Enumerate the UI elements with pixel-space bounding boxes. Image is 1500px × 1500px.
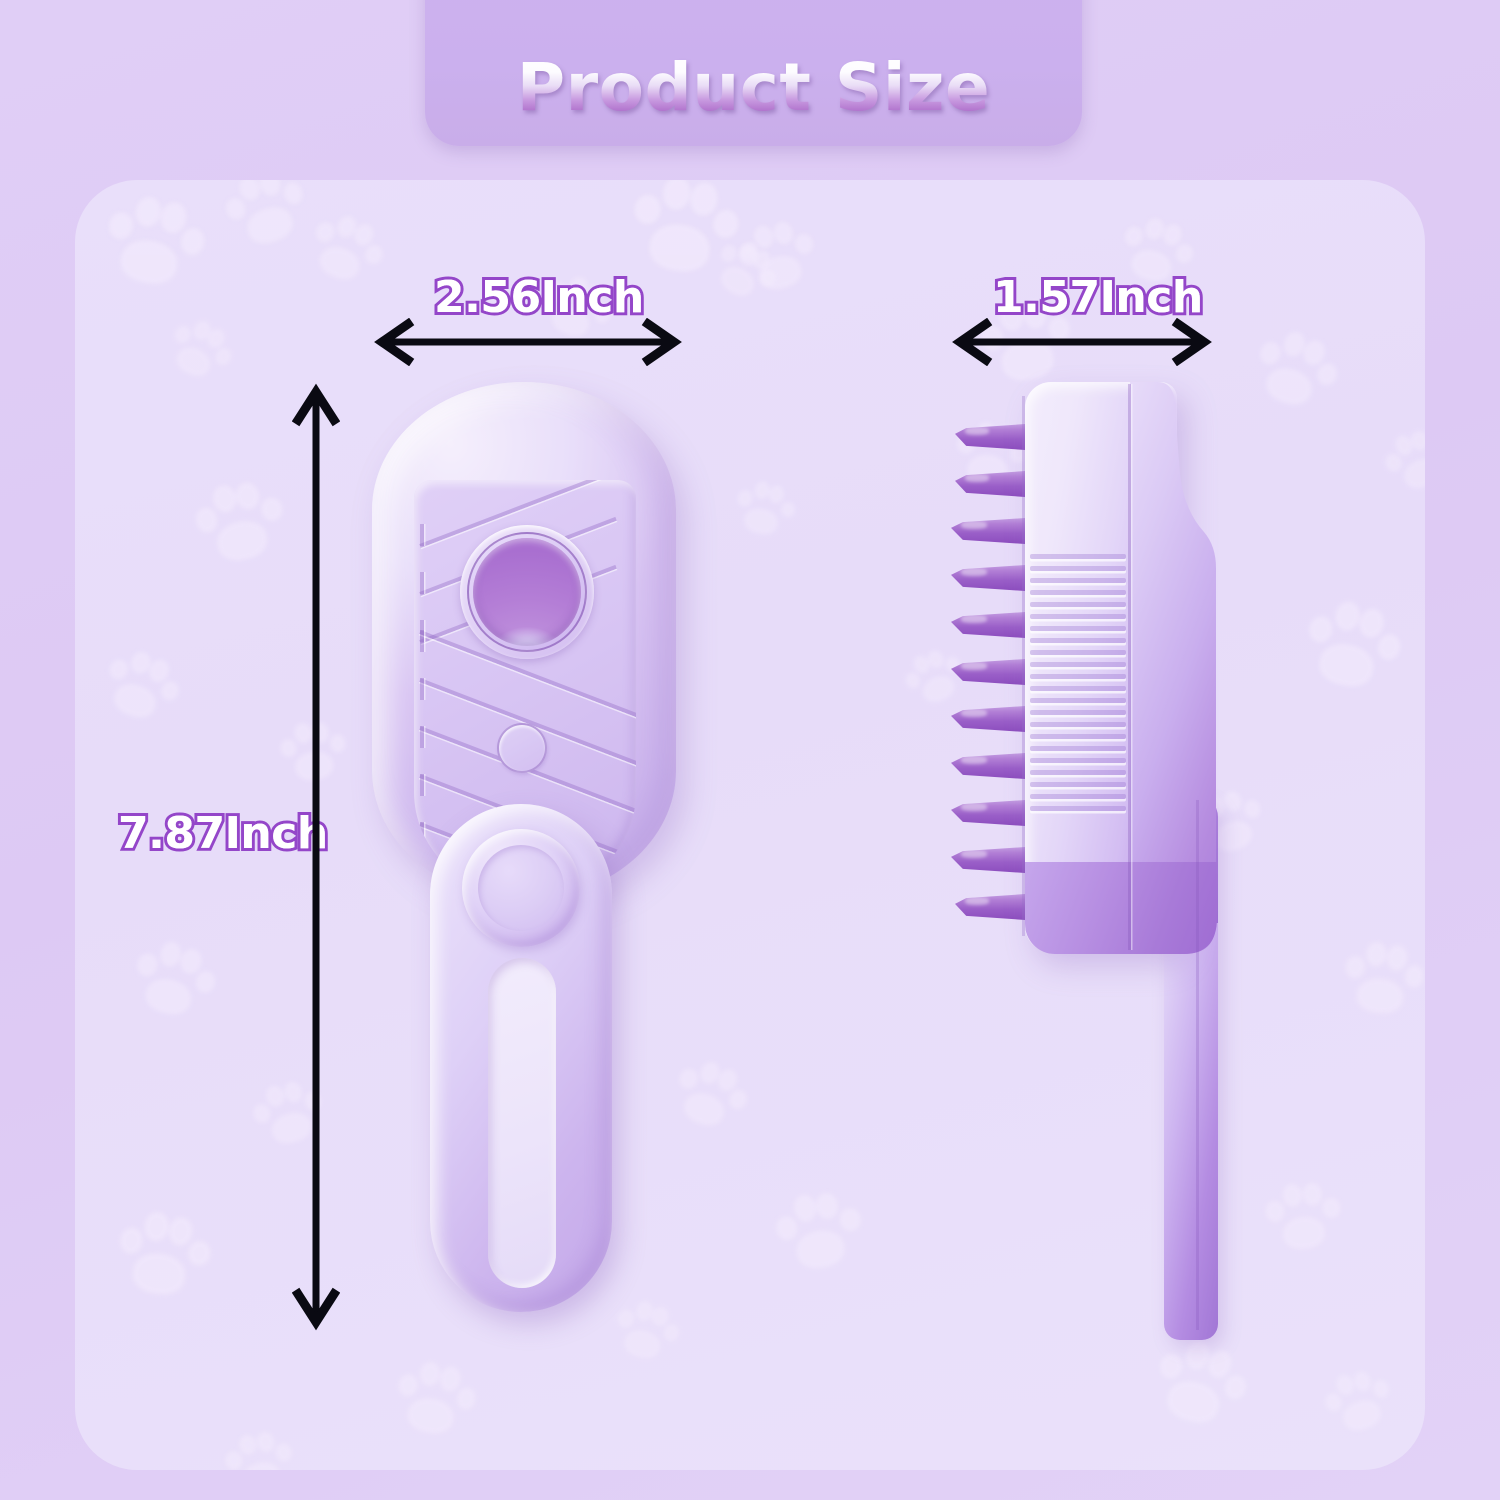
silicone-bristle	[951, 612, 1025, 638]
paw-print-icon	[161, 310, 240, 388]
grip-ridge-line	[1030, 722, 1126, 727]
grip-ridge-line	[1030, 554, 1126, 559]
chevron-tick	[420, 678, 424, 700]
grip-ridge-line	[1030, 662, 1126, 667]
grip-ridge-line	[1030, 746, 1126, 751]
grip-ridge-line	[1030, 710, 1126, 715]
chevron-tick	[420, 572, 424, 594]
paw-print-icon	[1317, 1362, 1397, 1440]
chevron-tick	[420, 774, 424, 796]
paw-print-icon	[389, 1354, 479, 1441]
paw-print-icon	[1262, 1176, 1343, 1254]
width-side-label: 1.57Inch	[993, 272, 1203, 323]
indicator-button[interactable]	[497, 723, 547, 773]
grip-ridge-line	[1030, 650, 1126, 655]
paw-print-icon	[769, 1183, 866, 1276]
page-title: Product Size	[517, 49, 990, 126]
silicone-bristle	[951, 800, 1025, 826]
silicone-bristle	[955, 894, 1025, 920]
paw-print-icon	[98, 186, 208, 292]
silicone-bristle	[951, 518, 1025, 544]
grip-ridge-line	[1030, 566, 1126, 571]
paw-print-icon	[1339, 936, 1424, 1018]
grip-ridge-line	[1030, 674, 1126, 679]
paw-print-icon	[219, 1424, 297, 1470]
side-head-left-edge	[1022, 396, 1025, 936]
silicone-bristle	[955, 471, 1025, 497]
grip-ridge-line	[1030, 590, 1126, 595]
grip-ridge-line	[1030, 770, 1126, 775]
silicone-bristle	[951, 565, 1025, 591]
paw-print-icon	[125, 931, 221, 1024]
chevron-tick	[420, 726, 424, 748]
paw-print-icon	[1297, 591, 1405, 696]
grip-ridge-line	[1030, 578, 1126, 583]
silicone-bristle	[951, 847, 1025, 873]
grip-ridge-line	[1030, 638, 1126, 643]
side-head-bottom	[1025, 862, 1217, 954]
grip-ridge-line	[1030, 734, 1126, 739]
chevron-tick	[420, 630, 424, 652]
width-arrow-side	[950, 318, 1214, 366]
handle-knob-inner	[478, 845, 564, 931]
grip-ridge-line	[1030, 686, 1126, 691]
grip-ridge-line	[1030, 758, 1126, 763]
grip-ridges	[1030, 554, 1126, 816]
paw-print-icon	[1376, 421, 1425, 499]
paw-print-icon	[1145, 1329, 1253, 1434]
grip-ridge-line	[1030, 602, 1126, 607]
chevron-tick	[420, 822, 424, 844]
silicone-bristle	[951, 659, 1025, 685]
silicone-bristle	[955, 424, 1025, 450]
width-front-label: 2.56Inch	[434, 272, 644, 323]
chevron-tick	[420, 524, 424, 546]
grip-ridge-line	[1030, 698, 1126, 703]
grip-ridge-line	[1030, 806, 1126, 811]
paw-print-icon	[215, 180, 312, 254]
paw-print-icon	[95, 640, 186, 729]
grip-ridge-line	[1030, 794, 1126, 799]
water-tank-window[interactable]	[473, 538, 581, 646]
paw-print-icon	[111, 1204, 212, 1301]
paw-print-icon	[187, 472, 288, 570]
grip-ridge-line	[1030, 614, 1126, 619]
paw-print-icon	[1245, 319, 1345, 416]
side-handle-seam	[1196, 800, 1199, 1330]
title-badge: Product Size	[425, 0, 1082, 146]
silicone-bristle	[951, 706, 1025, 732]
handle-loop-opening	[488, 958, 556, 1288]
grip-ridge-line	[1030, 782, 1126, 787]
silicone-bristle	[951, 753, 1025, 779]
side-head-seam	[1128, 384, 1131, 950]
infographic-canvas: Product Size 2.56Inch 2.56Inch 1.57Inch …	[0, 0, 1500, 1500]
height-arrow-front	[292, 382, 340, 1332]
paw-print-icon	[730, 475, 798, 541]
grip-ridge-line	[1030, 626, 1126, 631]
paw-print-icon	[301, 203, 391, 291]
width-arrow-front	[372, 318, 684, 366]
